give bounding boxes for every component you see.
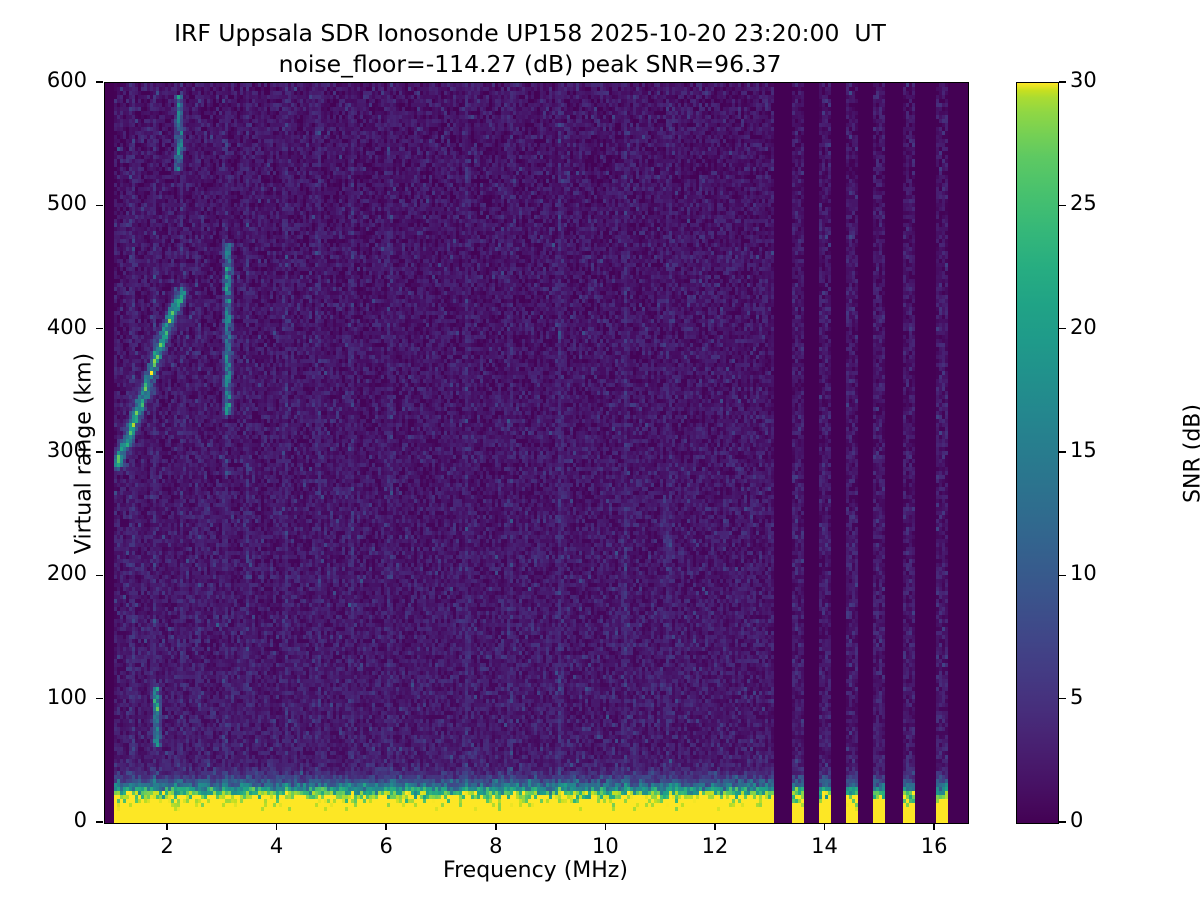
colorbar-tick-10 [1059,575,1066,577]
title-line-1: IRF Uppsala SDR Ionosonde UP158 2025-10-… [0,18,1060,49]
x-tick-14 [824,823,826,830]
x-ticklabel-4: 4 [270,834,283,858]
x-tick-16 [933,823,935,830]
x-ticklabel-8: 8 [489,834,502,858]
y-tick-0 [96,821,103,823]
colorbar-ticklabel-5: 5 [1070,685,1083,709]
x-ticklabel-14: 14 [811,834,838,858]
colorbar-tick-0 [1059,821,1066,823]
colorbar-tick-5 [1059,698,1066,700]
x-ticklabel-10: 10 [592,834,619,858]
figure-title: IRF Uppsala SDR Ionosonde UP158 2025-10-… [0,18,1060,79]
colorbar-ticklabel-15: 15 [1070,438,1097,462]
ionogram-heatmap-canvas [105,83,968,823]
x-tick-8 [495,823,497,830]
ionogram-figure: IRF Uppsala SDR Ionosonde UP158 2025-10-… [0,0,1200,900]
x-tick-12 [714,823,716,830]
colorbar-ticklabel-10: 10 [1070,561,1097,585]
colorbar-tick-15 [1059,451,1066,453]
y-tick-500 [96,205,103,207]
y-axis-label: Virtual range (km) [72,84,97,824]
x-ticklabel-16: 16 [921,834,948,858]
x-tick-10 [605,823,607,830]
colorbar-ticklabel-25: 25 [1070,191,1097,215]
colorbar-ticklabel-0: 0 [1070,808,1083,832]
colorbar-ticklabel-20: 20 [1070,315,1097,339]
x-axis-label: Frequency (MHz) [104,858,967,883]
y-tick-300 [96,451,103,453]
x-tick-2 [166,823,168,830]
colorbar-tick-25 [1059,205,1066,207]
x-tick-6 [385,823,387,830]
title-line-2: noise_floor=-114.27 (dB) peak SNR=96.37 [0,49,1060,80]
colorbar-tick-30 [1059,81,1066,83]
ionogram-plot-area [104,82,969,824]
colorbar-tick-20 [1059,328,1066,330]
colorbar-gradient [1016,82,1059,824]
y-tick-400 [96,328,103,330]
colorbar-label: SNR (dB) [1181,84,1200,824]
y-tick-200 [96,575,103,577]
x-ticklabel-6: 6 [379,834,392,858]
x-ticklabel-2: 2 [160,834,173,858]
colorbar-ticklabel-30: 30 [1070,68,1097,92]
x-tick-4 [276,823,278,830]
y-tick-100 [96,698,103,700]
y-tick-600 [96,81,103,83]
x-ticklabel-12: 12 [702,834,729,858]
